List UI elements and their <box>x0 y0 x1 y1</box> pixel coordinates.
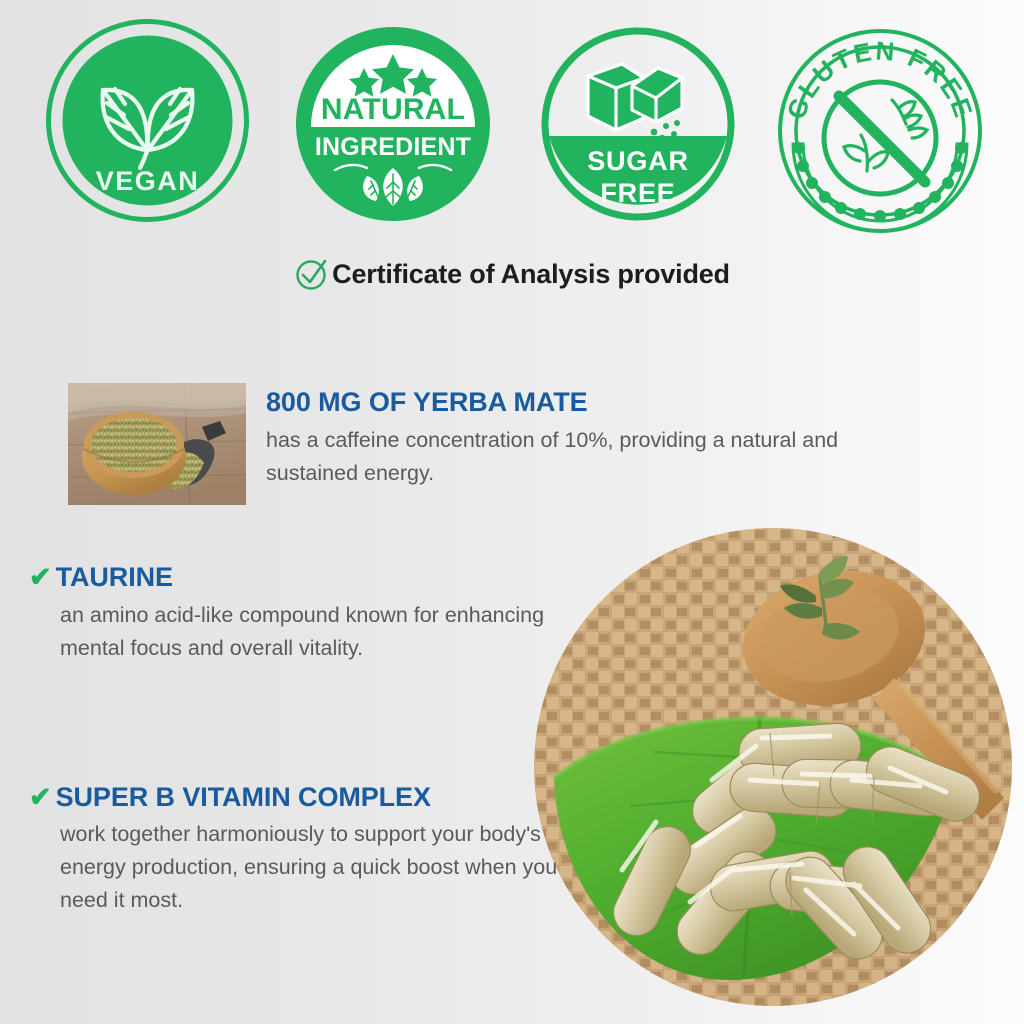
yerba-mate-heading: 800 MG OF YERBA MATE <box>266 387 906 418</box>
taurine-heading: TAURINE <box>56 562 173 593</box>
badge-vegan-label: VEGAN <box>96 166 200 196</box>
capsule-photo-illustration <box>534 528 1012 1006</box>
ingredient-super-b-vitamin-complex: ✔ SUPER B VITAMIN COMPLEX work together … <box>60 782 580 917</box>
certificate-of-analysis-row: Certificate of Analysis provided <box>0 256 1024 292</box>
taurine-body: an amino acid-like compound known for en… <box>60 599 580 665</box>
yerba-mate-text: 800 MG OF YERBA MATE has a caffeine conc… <box>266 387 906 490</box>
badge-natural-label-bottom: INGREDIENT <box>315 133 471 161</box>
badge-gluten-label: GLUTEN FREE <box>781 35 980 123</box>
badge-natural-ingredient: NATURAL INGREDIENT <box>293 24 493 224</box>
yerba-mate-thumbnail <box>68 383 246 505</box>
check-circle-icon <box>294 256 330 292</box>
check-icon: ✔ <box>29 784 52 811</box>
badge-natural-label-top: NATURAL <box>321 93 465 126</box>
check-icon: ✔ <box>29 564 52 591</box>
certification-badge-row: VEGAN NATURAL INGREDIENT <box>0 18 1024 243</box>
ingredient-taurine: ✔ TAURINE an amino acid-like compound kn… <box>60 562 580 665</box>
certificate-text: Certificate of Analysis provided <box>332 259 730 290</box>
badge-sugar-label-top: SUGAR <box>587 146 689 176</box>
badge-sugar-free: SUGAR FREE <box>540 26 736 222</box>
yerba-mate-body: has a caffeine concentration of 10%, pro… <box>266 424 906 490</box>
badge-sugar-label-bottom: FREE <box>600 178 675 208</box>
capsule-photo <box>534 528 1012 1006</box>
yerba-mate-illustration <box>68 383 246 505</box>
badge-vegan: VEGAN <box>45 18 250 223</box>
vitamin-heading: SUPER B VITAMIN COMPLEX <box>56 782 431 813</box>
badge-gluten-free: GLUTEN FREE <box>775 26 985 236</box>
vitamin-body: work together harmoniously to support yo… <box>60 818 580 917</box>
sugar-cubes-icon <box>588 64 682 130</box>
